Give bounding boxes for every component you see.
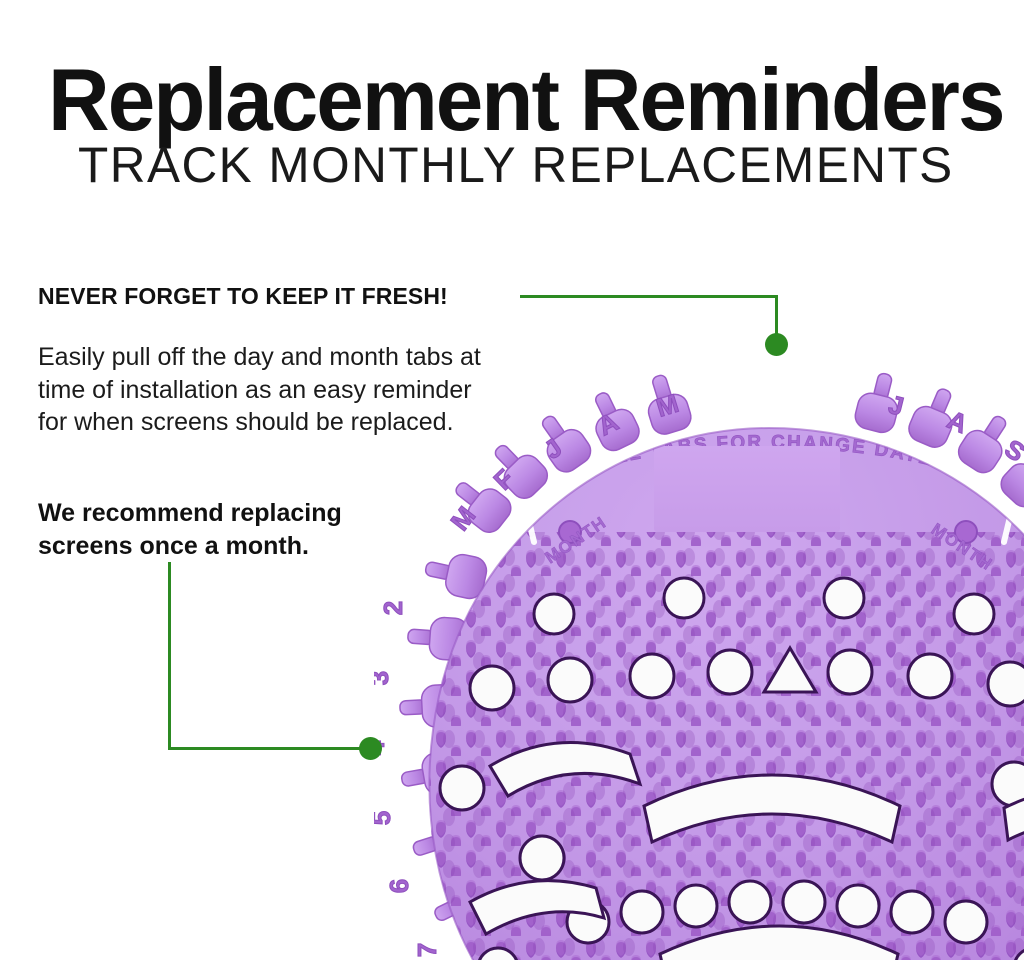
- slot-right-upper: [1004, 789, 1024, 840]
- month-tab-F: F: [488, 463, 520, 496]
- blank-label-patch: [654, 446, 840, 532]
- month-tab-S: S: [999, 433, 1024, 468]
- slot-center-upper: [644, 775, 900, 842]
- infographic-canvas: 2 3 4 5 6 7 8 M F J A M J A S: [0, 0, 1024, 960]
- callout-recommend: We recommend replacing screens once a mo…: [38, 497, 438, 562]
- leader-dot-1: [765, 333, 788, 356]
- month-tab-J2: J: [886, 389, 907, 422]
- day-tab-7: 7: [412, 943, 442, 957]
- triangle-emblem: [764, 648, 816, 692]
- day-tab-5: 5: [374, 811, 396, 825]
- rim-dimple-left: [559, 521, 581, 543]
- page-subtitle: TRACK MONTHLY REPLACEMENTS: [78, 140, 1009, 190]
- emboss-month-right: MONTH: [928, 520, 997, 575]
- month-tab-J: J: [538, 432, 567, 465]
- page-title: Replacement Reminders: [48, 56, 960, 144]
- slot-left-lower: [470, 881, 604, 934]
- emboss-pull-tabs-label: PULL TABS FOR CHANGE DATE: [582, 432, 936, 476]
- month-tab-A: A: [593, 406, 623, 441]
- month-tab-A2: A: [943, 404, 972, 439]
- leader-line-2-vertical: [168, 562, 171, 749]
- rim-dimple-right: [955, 521, 977, 543]
- callout-body: Easily pull off the day and month tabs a…: [38, 341, 490, 439]
- screen-openings: [440, 578, 1024, 960]
- month-tab-M: M: [444, 501, 481, 537]
- callout-kicker: NEVER FORGET TO KEEP IT FRESH!: [38, 283, 448, 310]
- day-tab-3: 3: [374, 671, 394, 685]
- leader-dot-2: [359, 737, 382, 760]
- day-tab-2: 2: [378, 601, 408, 615]
- emboss-month-left: MONTH: [542, 513, 611, 568]
- slot-center-lower: [660, 926, 898, 960]
- leader-line-1-horizontal: [520, 295, 778, 298]
- slot-left-upper: [490, 742, 640, 796]
- month-tab-M2: M: [653, 388, 682, 423]
- day-tab-6: 6: [384, 879, 414, 893]
- leader-line-2-horizontal: [168, 747, 364, 750]
- pull-tabs-group: 2 3 4 5 6 7 8 M F J A M J A S: [374, 369, 1024, 960]
